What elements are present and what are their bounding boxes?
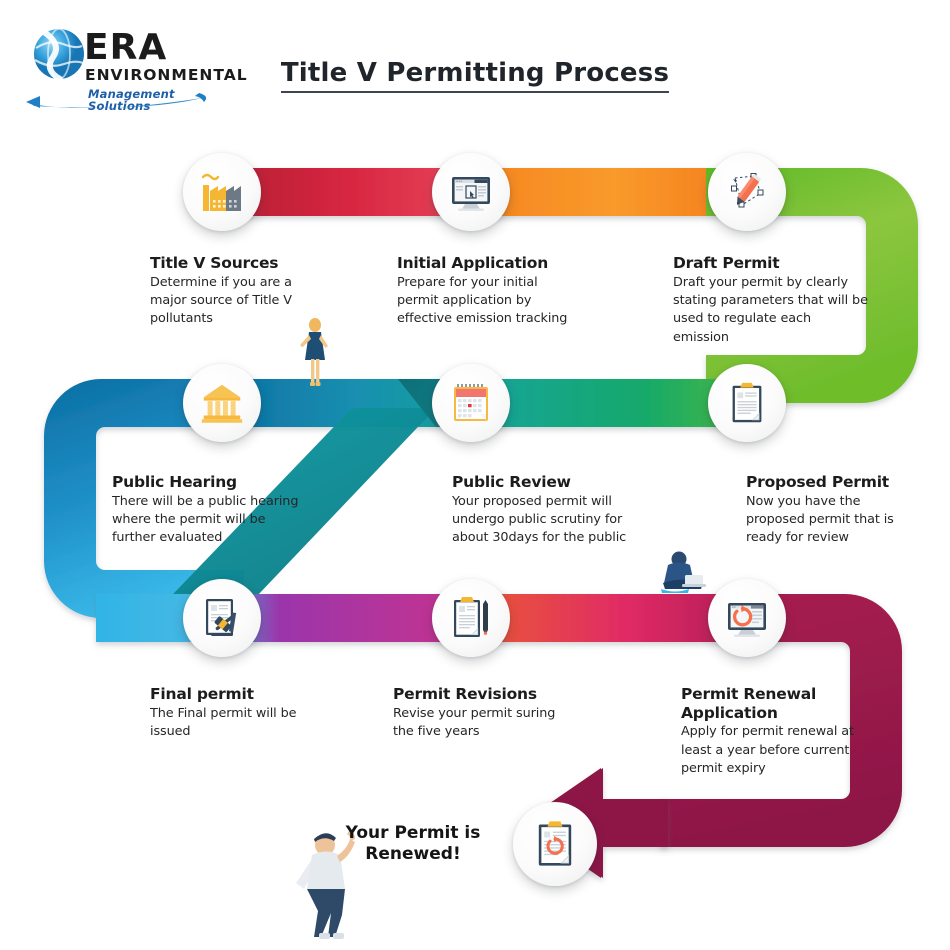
step-text-public-hearing: Public Hearing There will be a public he… (112, 473, 300, 548)
step-title: Initial Application (397, 254, 569, 273)
clipboard-document-icon (723, 379, 771, 427)
step-text-initial-application: Initial Application Prepare for your ini… (397, 254, 569, 329)
step-node-permit-renewed[interactable] (513, 802, 597, 886)
step-title: Public Review (452, 473, 640, 492)
final-state-label: Your Permit is Renewed! (318, 823, 508, 866)
step-body: Prepare for your initial permit applicat… (397, 274, 569, 329)
step-body: The Final permit will be issued (150, 705, 322, 742)
step-body: There will be a public hearing where the… (112, 493, 300, 548)
step-text-public-review: Public Review Your proposed permit will … (452, 473, 640, 548)
step-text-final-permit: Final permit The Final permit will be is… (150, 685, 322, 741)
calendar-icon (446, 378, 496, 428)
step-title: Public Hearing (112, 473, 300, 492)
step-node-permit-renewal-application[interactable] (708, 579, 786, 657)
step-text-proposed-permit: Proposed Permit Now you have the propose… (746, 473, 918, 548)
step-body: Revise your permit suring the five years (393, 705, 565, 742)
factory-icon (197, 167, 247, 217)
step-node-draft-permit[interactable] (708, 153, 786, 231)
monitor-refresh-icon (722, 593, 772, 643)
step-node-public-hearing[interactable] (183, 364, 261, 442)
gavel-document-icon (197, 593, 247, 643)
step-body: Draft your permit by clearly stating par… (673, 274, 869, 348)
monitor-form-icon (446, 167, 496, 217)
clipboard-refresh-icon (528, 817, 582, 871)
step-title: Permit Revisions (393, 685, 565, 704)
step-node-permit-revisions[interactable] (432, 579, 510, 657)
step-text-permit-renewal-application: Permit Renewal Application Apply for per… (681, 685, 877, 778)
person-sitting-laptop-illustration (655, 548, 711, 596)
step-body: Determine if you are a major source of T… (150, 274, 322, 329)
step-text-permit-revisions: Permit Revisions Revise your permit suri… (393, 685, 565, 741)
step-body: Apply for permit renewal at least a year… (681, 723, 877, 778)
step-title: Proposed Permit (746, 473, 918, 492)
clipboard-pencil-icon (446, 593, 496, 643)
step-text-title-v-sources: Title V Sources Determine if you are a m… (150, 254, 322, 329)
step-node-final-permit[interactable] (183, 579, 261, 657)
step-title: Permit Renewal Application (681, 685, 877, 722)
step-title: Title V Sources (150, 254, 322, 273)
step-node-public-review[interactable] (432, 364, 510, 442)
pencil-draft-icon (722, 167, 772, 217)
step-title: Draft Permit (673, 254, 869, 273)
infographic-canvas: ERA ENVIRONMENTAL Management Solutions T… (0, 0, 950, 950)
step-text-draft-permit: Draft Permit Draft your permit by clearl… (673, 254, 869, 347)
step-title: Final permit (150, 685, 322, 704)
step-body: Your proposed permit will undergo public… (452, 493, 640, 548)
courthouse-icon (198, 379, 246, 427)
step-node-proposed-permit[interactable] (708, 364, 786, 442)
step-node-title-v-sources[interactable] (183, 153, 261, 231)
step-body: Now you have the proposed permit that is… (746, 493, 918, 548)
step-node-initial-application[interactable] (432, 153, 510, 231)
